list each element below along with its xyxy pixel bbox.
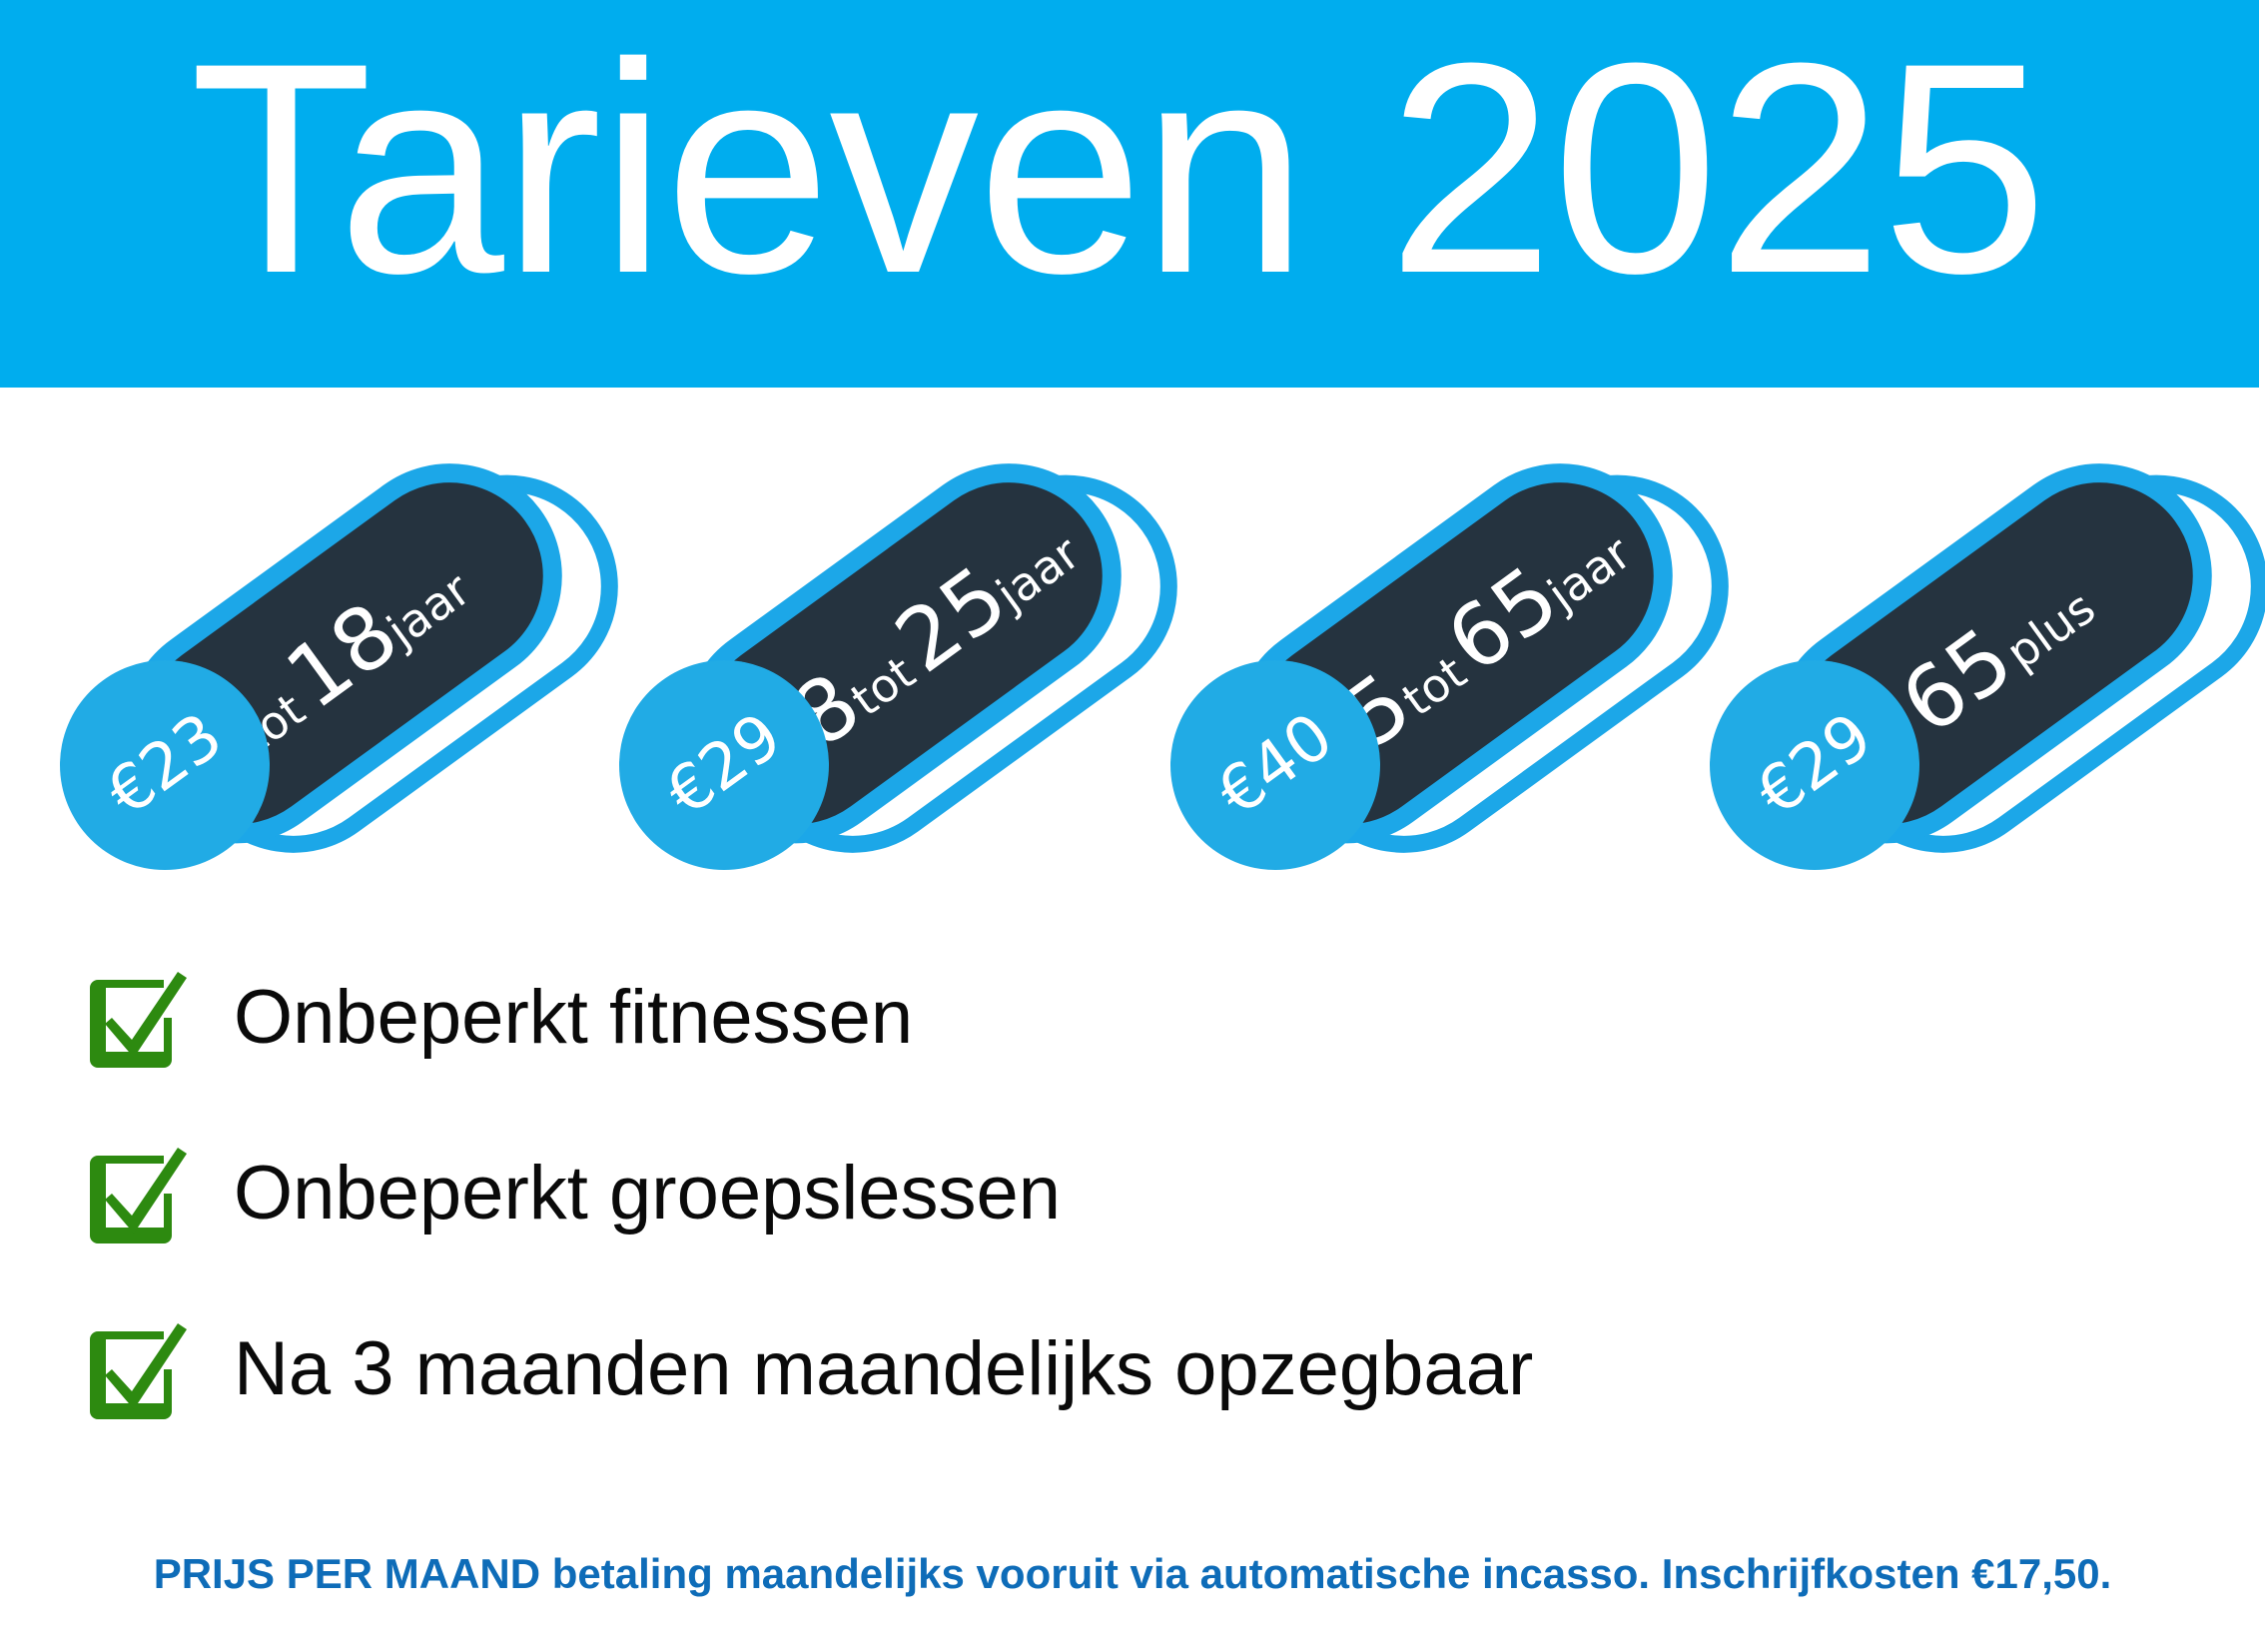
- pricing-poster: Tarieven 2025 tot 18 jaar €23: [0, 0, 2265, 1652]
- feature-label: Onbeperkt groepslessen: [234, 1152, 1061, 1236]
- list-item: Onbeperkt fitnessen: [88, 959, 1686, 1077]
- list-item: Na 3 maanden maandelijks opzegbaar: [88, 1310, 1686, 1428]
- footer-note: PRIJS PER MAAND betaling maandelijks voo…: [0, 1546, 2265, 1602]
- pricing-badge-tot-18-jaar[interactable]: tot 18 jaar €23: [40, 388, 599, 907]
- pricing-badge-18-tot-25-jaar[interactable]: 18 tot 25 jaar €29: [599, 388, 1158, 907]
- feature-list: Onbeperkt fitnessen Onbeperkt groepsless…: [88, 959, 1686, 1486]
- feature-label: Onbeperkt fitnessen: [234, 976, 913, 1060]
- header-band: Tarieven 2025: [0, 0, 2259, 388]
- checkbox-checked-icon: [88, 966, 192, 1070]
- feature-label: Na 3 maanden maandelijks opzegbaar: [234, 1327, 1533, 1411]
- page-title: Tarieven 2025: [190, 18, 2046, 318]
- list-item: Onbeperkt groepslessen: [88, 1135, 1686, 1252]
- checkbox-checked-icon: [88, 1142, 192, 1245]
- pricing-badge-65-plus[interactable]: 65 plus €29: [1690, 388, 2249, 907]
- checkbox-checked-icon: [88, 1317, 192, 1421]
- footer-rest: betaling maandelijks vooruit via automat…: [540, 1550, 2111, 1597]
- pricing-badges-row: tot 18 jaar €23 18 tot 25 jaar: [0, 388, 2265, 907]
- pricing-badge-25-tot-65-jaar[interactable]: 25 tot 65 jaar €40: [1150, 388, 1710, 907]
- footer-lead: PRIJS PER MAAND: [154, 1550, 540, 1597]
